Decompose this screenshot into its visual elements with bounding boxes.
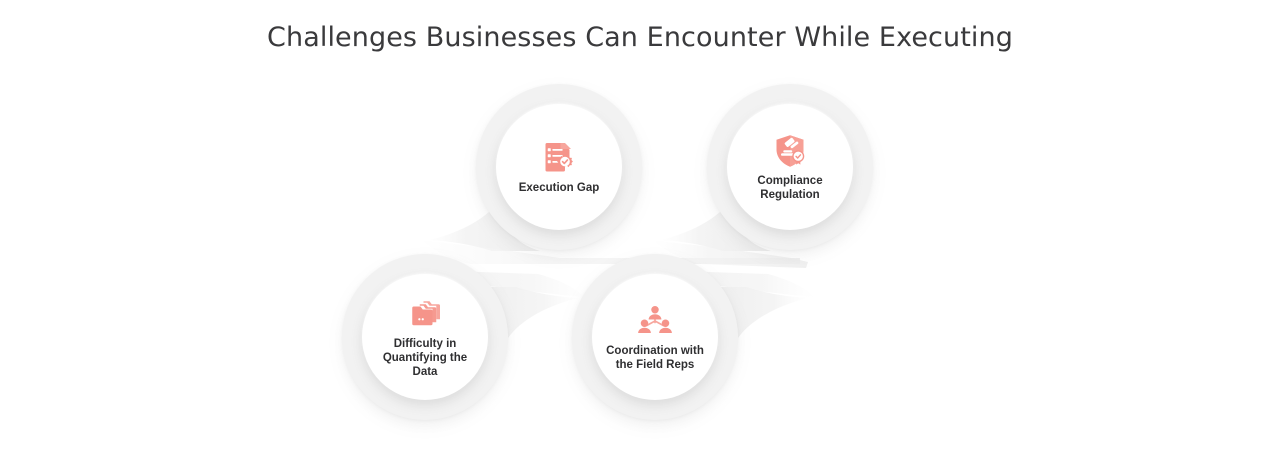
diagram-node-difficulty-quantifying-data[interactable]: Difficulty in Quantifying the Data <box>342 254 508 420</box>
node-label: Difficulty in Quantifying the Data <box>383 337 467 379</box>
node-label: Coordination with the Field Reps <box>606 344 704 372</box>
node-card: Execution Gap <box>496 104 622 230</box>
node-label: Compliance Regulation <box>757 174 822 202</box>
diagram-node-compliance-regulation[interactable]: Compliance Regulation <box>707 84 873 250</box>
node-card: Compliance Regulation <box>727 104 853 230</box>
infographic-canvas: Challenges Businesses Can Encounter Whil… <box>0 0 1280 455</box>
diagram-node-coordination-field-reps[interactable]: Coordination with the Field Reps <box>572 254 738 420</box>
node-card: Difficulty in Quantifying the Data <box>362 274 488 400</box>
page-title: Challenges Businesses Can Encounter Whil… <box>0 22 1280 53</box>
node-label: Execution Gap <box>519 181 600 195</box>
diagram-node-execution-gap[interactable]: Execution Gap <box>476 84 642 250</box>
clipboard-check-gear-icon <box>541 140 577 176</box>
node-card: Coordination with the Field Reps <box>592 274 718 400</box>
stacked-folders-icon <box>407 296 443 332</box>
shield-gavel-certificate-icon <box>772 133 808 169</box>
team-hierarchy-icon <box>637 303 673 339</box>
